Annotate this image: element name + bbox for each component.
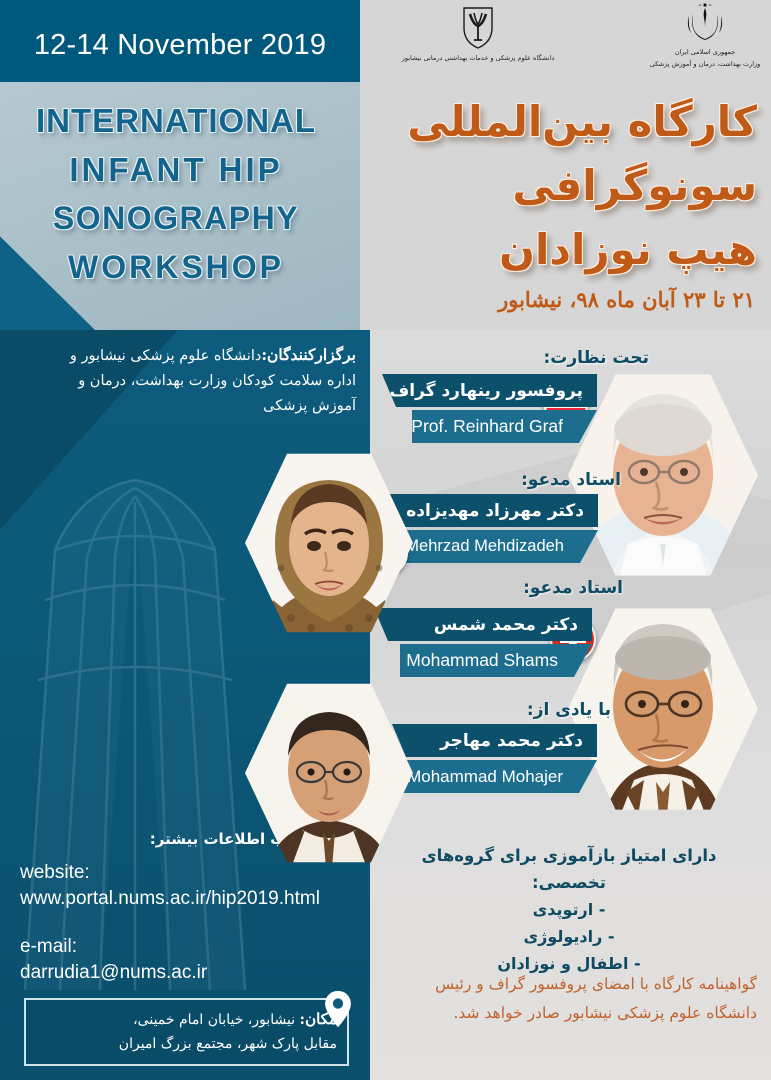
- right-speakers-panel: تحت نظارت:: [370, 330, 771, 1080]
- venue-line-1: مکان: نیشابور، خیابان امام خمینی،: [36, 1007, 337, 1032]
- organizer-text: برگزارکنندگان:دانشگاه علوم پزشکی نیشابور…: [40, 342, 356, 419]
- title-en-line-2: INFANT HIP: [0, 145, 352, 194]
- event-date-fa: ۲۱ تا ۲۳ آبان ماه ۹۸، نیشابور: [355, 287, 755, 312]
- ministry-logo-caption-line2: وزارت بهداشت، درمان و آموزش پزشکی: [640, 60, 770, 70]
- certificate-note: گواهینامه کارگاه با امضای پروفسور گراف و…: [383, 970, 757, 1028]
- title-fa-line-2: سونوگرافی: [357, 154, 757, 218]
- iran-health-ministry-logo: جمهوری اسلامی ایران وزارت بهداشت، درمان …: [640, 2, 770, 80]
- organizer-label: برگزارکنندگان:: [261, 345, 356, 364]
- speaker-3-role: استاد مدعو:: [523, 578, 623, 598]
- ministry-logo-caption-line1: جمهوری اسلامی ایران: [640, 48, 770, 58]
- speaker-4-name-en: Dr. Mohammad Mohajer: [384, 760, 597, 793]
- event-date-en: 12-14 November 2019: [0, 0, 360, 82]
- speaker-2-role: استاد مدعو:: [521, 470, 621, 490]
- cme-item-radiology: - رادیولوژی: [383, 923, 755, 950]
- workshop-title-fa: کارگاه بین‌المللی سونوگرافی هیپ نوزادان: [357, 90, 757, 282]
- venue-line-2: مقابل پارک شهر، مجتمع بزرگ امیران: [36, 1032, 337, 1056]
- cme-item-orthopedics: - ارتوپدی: [383, 896, 755, 923]
- website-label: website:: [20, 860, 360, 886]
- email-address[interactable]: darrudia1@nums.ac.ir: [20, 960, 360, 986]
- workshop-title-en: INTERNATIONAL INFANT HIP SONOGRAPHY WORK…: [0, 96, 352, 292]
- map-pin-icon: [323, 990, 353, 1028]
- speaker-1-role: تحت نظارت:: [543, 348, 649, 368]
- contact-spacer: [20, 912, 360, 934]
- title-en-line-4: WORKSHOP: [0, 243, 352, 292]
- website-url[interactable]: www.portal.nums.ac.ir/hip2019.html: [20, 886, 360, 912]
- title-en-line-3: SONOGRAPHY: [0, 194, 352, 243]
- certificate-line-1: گواهینامه کارگاه با امضای پروفسور گراف و…: [383, 970, 757, 999]
- certificate-line-2: دانشگاه علوم پزشکی نیشابور صادر خواهد شد…: [383, 999, 757, 1028]
- venue-box: مکان: نیشابور، خیابان امام خمینی، مقابل …: [24, 998, 349, 1066]
- speaker-2-name-en: Dr. Mehrzad Mehdizadeh: [384, 530, 598, 563]
- nums-logo-caption: دانشگاه علوم پزشکی و خدمات بهداشتی درمان…: [392, 54, 564, 64]
- speaker-3-name-fa: دکتر محمد شمس: [374, 608, 592, 641]
- cme-credits-block: دارای امتیاز بازآموزی برای گروه‌های تخصص…: [383, 842, 755, 977]
- title-fa-line-3: هیپ نوزادان: [357, 218, 757, 282]
- cme-heading: دارای امتیاز بازآموزی برای گروه‌های تخصص…: [383, 842, 755, 896]
- speaker-3-name-en: Dr. Mohammad Shams: [400, 644, 592, 677]
- top-bar: 12-14 November 2019 دانشگاه علوم پزشکی و…: [0, 0, 771, 82]
- title-en-line-1: INTERNATIONAL: [0, 96, 352, 145]
- speaker-1-name-en: Prof. Reinhard Graf: [412, 410, 597, 443]
- speaker-4-role: با یادی از:: [527, 700, 611, 720]
- speaker-4-name-fa: دکتر محمد مهاجر: [392, 724, 597, 757]
- poster-root: 12-14 November 2019 دانشگاه علوم پزشکی و…: [0, 0, 771, 1080]
- email-label: e-mail:: [20, 934, 360, 960]
- contact-block: website: www.portal.nums.ac.ir/hip2019.h…: [20, 860, 360, 986]
- nums-university-logo: دانشگاه علوم پزشکی و خدمات بهداشتی درمان…: [392, 4, 564, 78]
- speaker-1-name-fa: پروفسور رینهارد گراف: [382, 374, 597, 407]
- speaker-2-name-fa: دکتر مهرزاد مهدیزاده: [376, 494, 598, 527]
- venue-address-1: نیشابور، خیابان امام خمینی،: [133, 1012, 295, 1028]
- title-fa-line-1: کارگاه بین‌المللی: [357, 90, 757, 154]
